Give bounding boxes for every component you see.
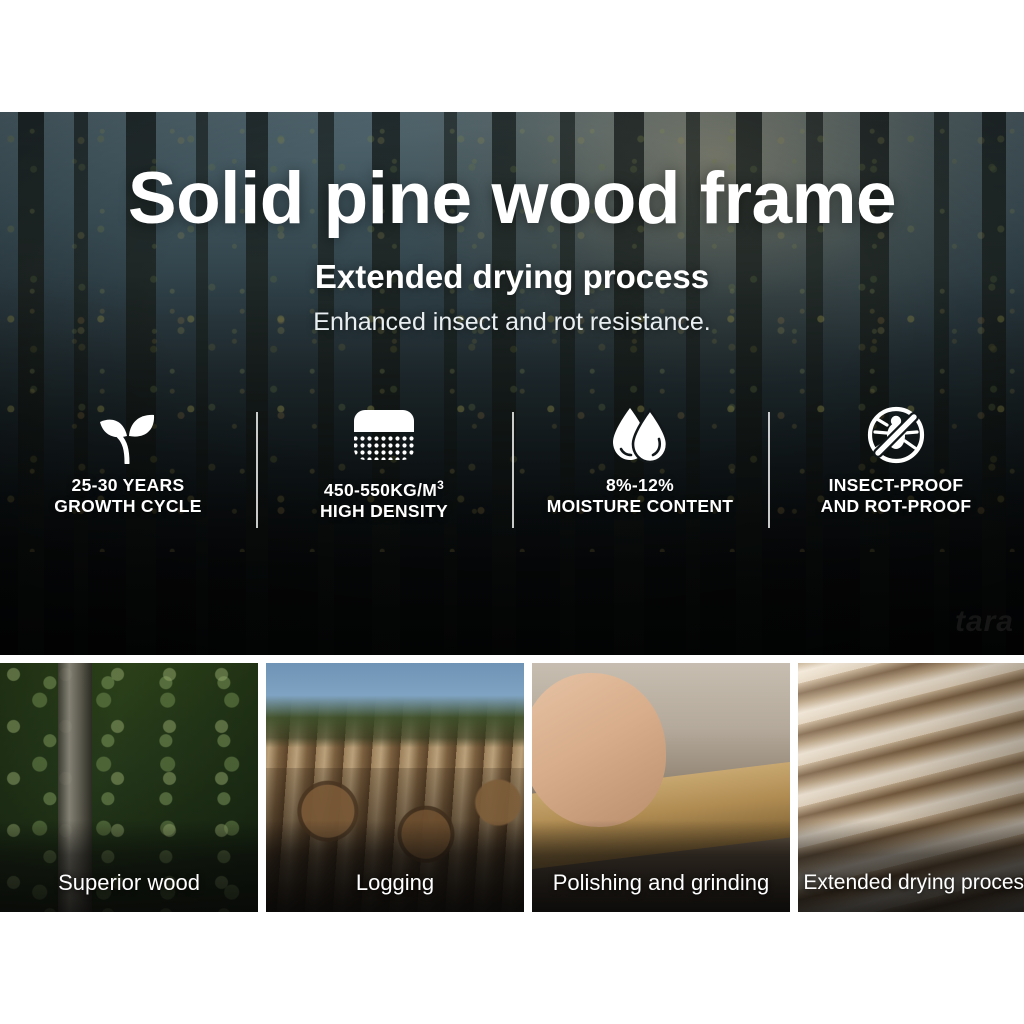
gallery-tile-superior-wood[interactable]: Superior wood	[0, 663, 258, 912]
density-block-icon	[352, 404, 416, 466]
hero-subtitle: Extended drying process	[0, 260, 1024, 293]
caption-scrim	[266, 820, 524, 912]
gallery-caption: Polishing and grinding	[532, 870, 790, 896]
gallery-tile-drying[interactable]: Extended drying process	[798, 663, 1024, 912]
feature-label-line2: HIGH DENSITY	[320, 501, 448, 522]
process-gallery: Superior wood Logging Polishing and grin…	[0, 663, 1024, 912]
caption-scrim	[532, 820, 790, 912]
feature-label-line1: 8%-12%	[606, 475, 674, 496]
feature-label-line2: AND ROT-PROOF	[821, 496, 972, 517]
hero-tagline: Enhanced insect and rot resistance.	[0, 310, 1024, 335]
no-insect-icon	[866, 404, 926, 466]
gallery-tile-polishing[interactable]: Polishing and grinding	[532, 663, 790, 912]
feature-list: 25-30 YEARS GROWTH CYCLE	[0, 404, 1024, 544]
gallery-caption: Extended drying process	[798, 870, 1024, 896]
feature-label-line2: GROWTH CYCLE	[54, 496, 201, 517]
feature-label-line1: INSECT-PROOF	[829, 475, 964, 496]
gallery-caption: Superior wood	[0, 870, 258, 896]
feature-insect-proof: INSECT-PROOF AND ROT-PROOF	[768, 404, 1024, 544]
feature-high-density: 450-550KG/M3 HIGH DENSITY	[256, 404, 512, 544]
feature-growth-cycle: 25-30 YEARS GROWTH CYCLE	[0, 404, 256, 544]
caption-scrim	[798, 820, 1024, 912]
page-title: Solid pine wood frame	[0, 162, 1024, 235]
feature-label-line1: 450-550KG/M3	[324, 475, 444, 501]
feature-label-line1: 25-30 YEARS	[72, 475, 185, 496]
cubic-superscript: 3	[437, 478, 444, 492]
feature-label-line2: MOISTURE CONTENT	[547, 496, 734, 517]
gallery-caption: Logging	[266, 870, 524, 896]
watermark: tara	[955, 605, 1014, 639]
feature-moisture-content: 8%-12% MOISTURE CONTENT	[512, 404, 768, 544]
hero-banner: Solid pine wood frame Extended drying pr…	[0, 112, 1024, 655]
sprout-leaf-icon	[97, 404, 159, 466]
hero-content: Solid pine wood frame Extended drying pr…	[0, 112, 1024, 655]
water-drops-icon	[607, 404, 673, 466]
caption-scrim	[0, 820, 258, 912]
gallery-tile-logging[interactable]: Logging	[266, 663, 524, 912]
